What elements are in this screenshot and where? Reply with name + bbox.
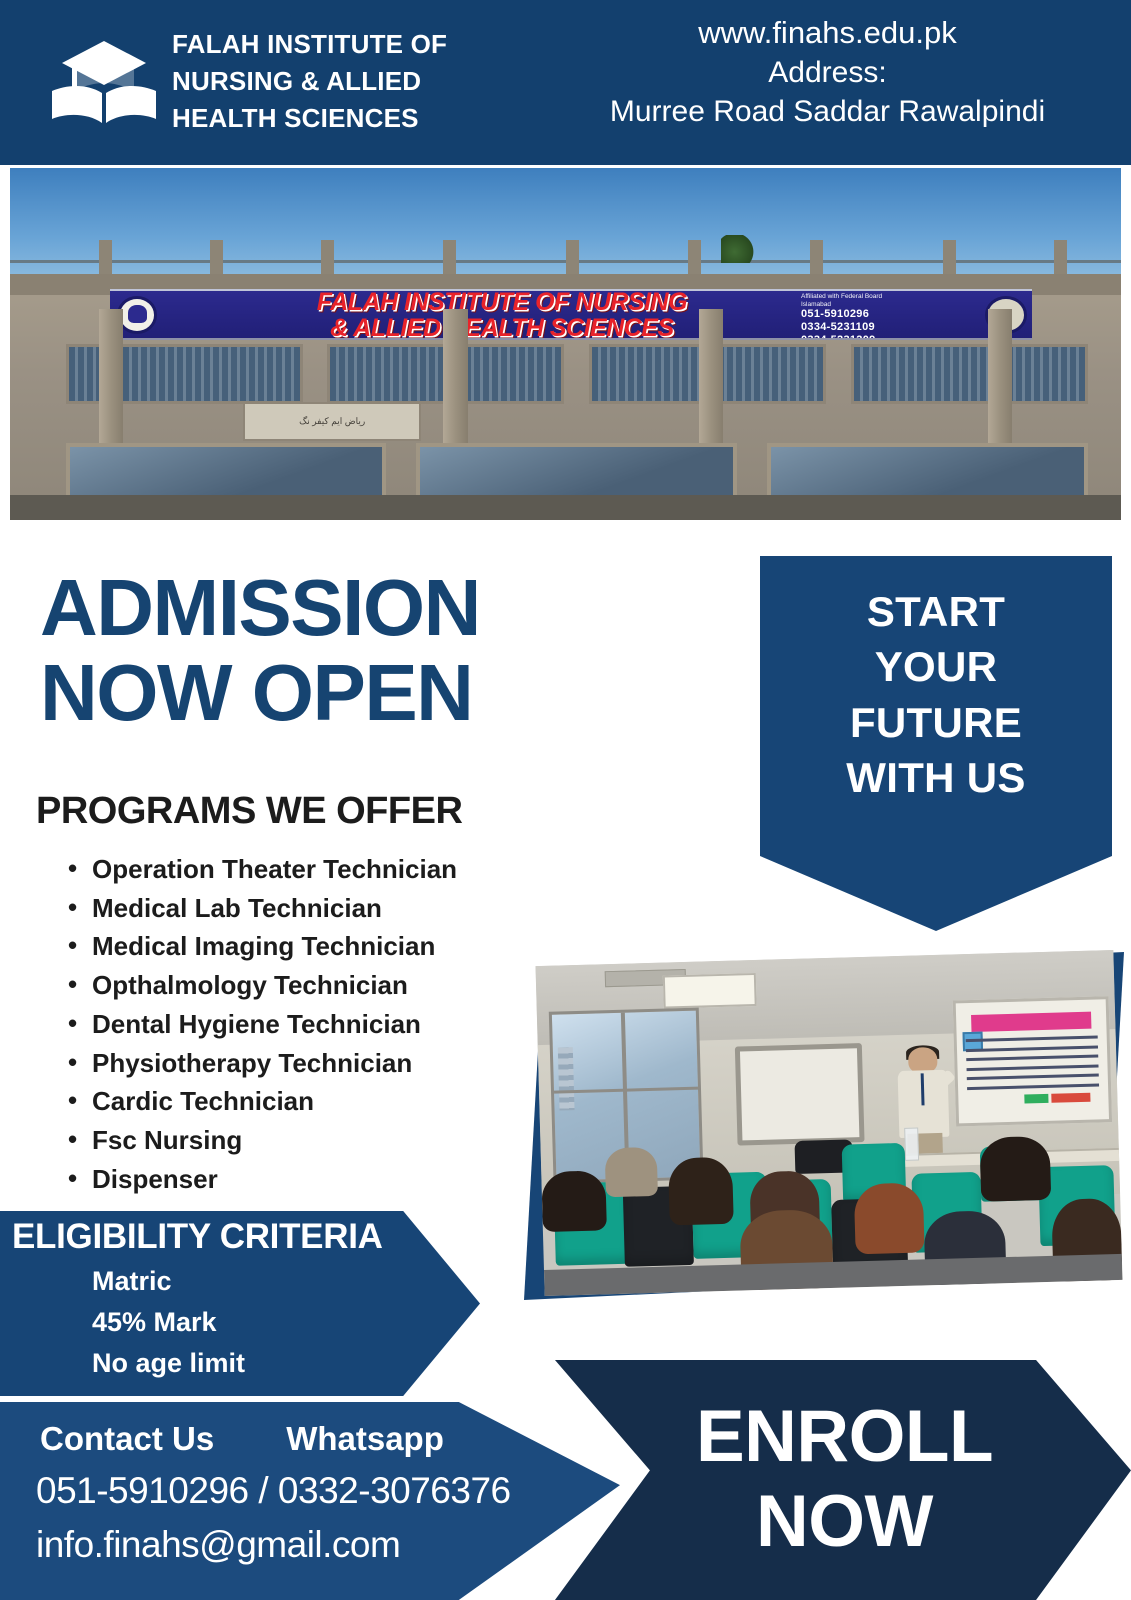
slide-highlight-red bbox=[1051, 1093, 1090, 1102]
institute-logo bbox=[34, 28, 174, 138]
pennant-line-4: WITH US bbox=[760, 750, 1112, 805]
signboard-phone-1: 051-5910296 bbox=[801, 308, 991, 321]
programs-list: Operation Theater Technician Medical Lab… bbox=[66, 850, 586, 1199]
poster-header: FALAH INSTITUTE OF NURSING & ALLIED HEAL… bbox=[0, 0, 1131, 165]
signboard-line-2: & ALLIED HEALTH SCIENCES bbox=[170, 315, 834, 341]
eligibility-criterion: Matric bbox=[92, 1261, 245, 1302]
contact-us-label: Contact Us bbox=[40, 1420, 214, 1458]
contact-banner: Contact Us Whatsapp 051-5910296 / 0332-3… bbox=[0, 1402, 620, 1600]
list-item: Medical Lab Technician bbox=[66, 889, 586, 928]
whatsapp-label: Whatsapp bbox=[286, 1420, 444, 1458]
institute-building-photo: FALAH INSTITUTE OF NURSING & ALLIED HEAL… bbox=[10, 168, 1121, 520]
list-item: Physiotherapy Technician bbox=[66, 1044, 586, 1083]
contact-phone-numbers[interactable]: 051-5910296 / 0332-3076376 bbox=[36, 1470, 511, 1512]
institute-name: FALAH INSTITUTE OF NURSING & ALLIED HEAL… bbox=[172, 26, 562, 137]
list-item: Medical Imaging Technician bbox=[66, 927, 586, 966]
pennant-line-2: YOUR bbox=[760, 639, 1112, 694]
roof-tree bbox=[721, 235, 755, 263]
upper-window-row bbox=[66, 344, 1088, 404]
eligibility-title: ELIGIBILITY CRITERIA bbox=[12, 1217, 383, 1257]
list-item: Opthalmology Technician bbox=[66, 966, 586, 1005]
classroom-seminar-photo bbox=[536, 950, 1123, 1296]
signboard-line-1: FALAH INSTITUTE OF NURSING bbox=[170, 289, 834, 315]
enroll-line-1: ENROLL bbox=[696, 1395, 993, 1480]
slide-title-bar bbox=[971, 1012, 1091, 1032]
list-item: Dispenser bbox=[66, 1160, 586, 1199]
programs-heading: PROGRAMS WE OFFER bbox=[36, 790, 462, 833]
signboard-phone-2: 0334-5231109 bbox=[801, 321, 991, 334]
pennant-line-3: FUTURE bbox=[760, 695, 1112, 750]
list-item: Dental Hygiene Technician bbox=[66, 1005, 586, 1044]
institute-name-line-2: NURSING & ALLIED bbox=[172, 63, 562, 100]
header-contact-block: www.finahs.edu.pk Address: Murree Road S… bbox=[530, 14, 1125, 131]
eligibility-criteria-list: Matric 45% Mark No age limit bbox=[92, 1261, 245, 1384]
signboard-contact-block: Affiliated with Federal Board Islamabad … bbox=[797, 293, 991, 336]
street-level bbox=[10, 495, 1121, 520]
attendee bbox=[980, 1136, 1051, 1202]
attendee bbox=[604, 1147, 657, 1197]
attendee bbox=[541, 1170, 606, 1232]
projection-screen bbox=[953, 996, 1112, 1126]
attendee bbox=[668, 1157, 733, 1226]
outside-building bbox=[558, 1047, 574, 1110]
graduation-cap-book-icon bbox=[44, 35, 164, 131]
headline-line-1: ADMISSION bbox=[40, 566, 660, 651]
whiteboard bbox=[734, 1043, 864, 1146]
admission-poster: FALAH INSTITUTE OF NURSING & ALLIED HEAL… bbox=[0, 0, 1131, 1600]
eligibility-banner: ELIGIBILITY CRITERIA Matric 45% Mark No … bbox=[0, 1211, 480, 1396]
address-value: Murree Road Saddar Rawalpindi bbox=[530, 92, 1125, 131]
contact-email[interactable]: info.finahs@gmail.com bbox=[36, 1524, 400, 1566]
building-signboard: FALAH INSTITUTE OF NURSING & ALLIED HEAL… bbox=[110, 289, 1032, 340]
contact-labels: Contact Us Whatsapp bbox=[40, 1420, 550, 1458]
page-title: ADMISSION NOW OPEN bbox=[40, 566, 660, 736]
address-label: Address: bbox=[530, 53, 1125, 92]
list-item: Cardic Technician bbox=[66, 1082, 586, 1121]
list-item: Operation Theater Technician bbox=[66, 850, 586, 889]
signboard-phone-3: 0334-5231209 bbox=[801, 334, 991, 341]
institute-name-line-1: FALAH INSTITUTE OF bbox=[172, 26, 562, 63]
signboard-text: FALAH INSTITUTE OF NURSING & ALLIED HEAL… bbox=[170, 294, 834, 336]
eligibility-criterion: No age limit bbox=[92, 1343, 245, 1384]
eligibility-criterion: 45% Mark bbox=[92, 1302, 245, 1343]
window-group bbox=[851, 344, 1088, 404]
start-your-future-banner: START YOUR FUTURE WITH US bbox=[760, 556, 1112, 931]
institute-name-line-3: HEALTH SCIENCES bbox=[172, 100, 562, 137]
attendee bbox=[854, 1182, 925, 1254]
signboard-affiliation-2: Islamabad bbox=[801, 301, 991, 309]
headline-line-2: NOW OPEN bbox=[40, 651, 660, 736]
website-url[interactable]: www.finahs.edu.pk bbox=[530, 14, 1125, 53]
pennant-line-1: START bbox=[760, 584, 1112, 639]
enroll-line-2: NOW bbox=[756, 1480, 933, 1565]
ceiling-light bbox=[663, 973, 756, 1009]
signboard-seal-left bbox=[117, 296, 157, 334]
urdu-signboard: ریاض ایم کیفر نگ bbox=[243, 402, 421, 441]
signboard-affiliation-1: Affiliated with Federal Board bbox=[801, 293, 991, 301]
slide-highlight-green bbox=[1024, 1094, 1048, 1103]
list-item: Fsc Nursing bbox=[66, 1121, 586, 1160]
